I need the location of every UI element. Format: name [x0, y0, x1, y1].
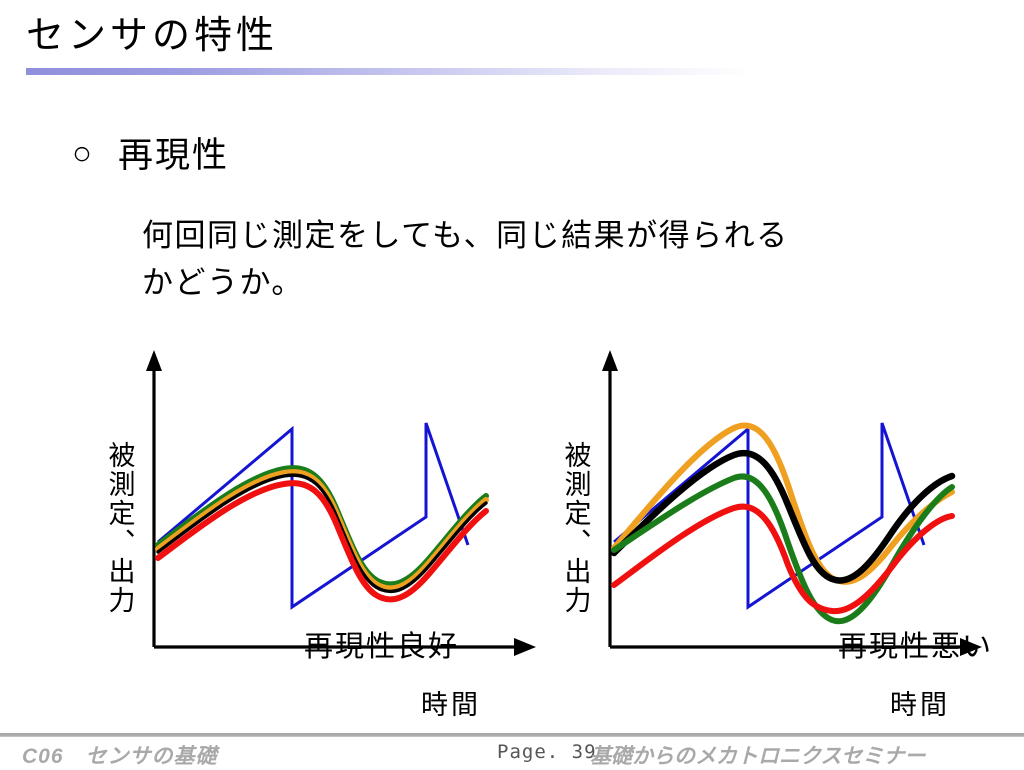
body-line-1: 何回同じ測定をしても、同じ結果が得られる [142, 212, 982, 259]
footer-series-label: 基礎からのメカトロニクスセミナー [590, 740, 925, 770]
chart-caption-bad: 再現性悪い [838, 623, 993, 665]
series-output-run-3 [158, 475, 486, 591]
series-input-sawtooth [614, 423, 924, 607]
x-axis-label: 時間 [890, 683, 950, 722]
chart-bad-reproducibility: 被測定、出力 時間 再現性悪い [552, 345, 992, 720]
body-line-2: かどうか。 [142, 259, 982, 306]
circle-bullet-icon: ○ [72, 136, 92, 169]
y-axis-label: 被測定、出力 [100, 403, 140, 653]
body-paragraph: 何回同じ測定をしても、同じ結果が得られる かどうか。 [142, 212, 982, 306]
bullet-heading-label: 再現性 [118, 127, 229, 178]
x-axis-label: 時間 [421, 683, 481, 722]
page-title: センサの特性 [26, 17, 278, 55]
bullet-heading: ○ 再現性 [72, 127, 229, 178]
chart-caption-good: 再現性良好 [304, 623, 459, 665]
footer-divider [0, 733, 1024, 737]
footer-course-label: C06 センサの基礎 [22, 740, 218, 770]
chart-good-reproducibility: 被測定、出力 時間 再現性良好 [96, 345, 536, 720]
title-underline-rule [26, 68, 752, 75]
y-axis-label: 被測定、出力 [556, 403, 596, 653]
footer-page-number: Page. 39 [497, 741, 597, 763]
